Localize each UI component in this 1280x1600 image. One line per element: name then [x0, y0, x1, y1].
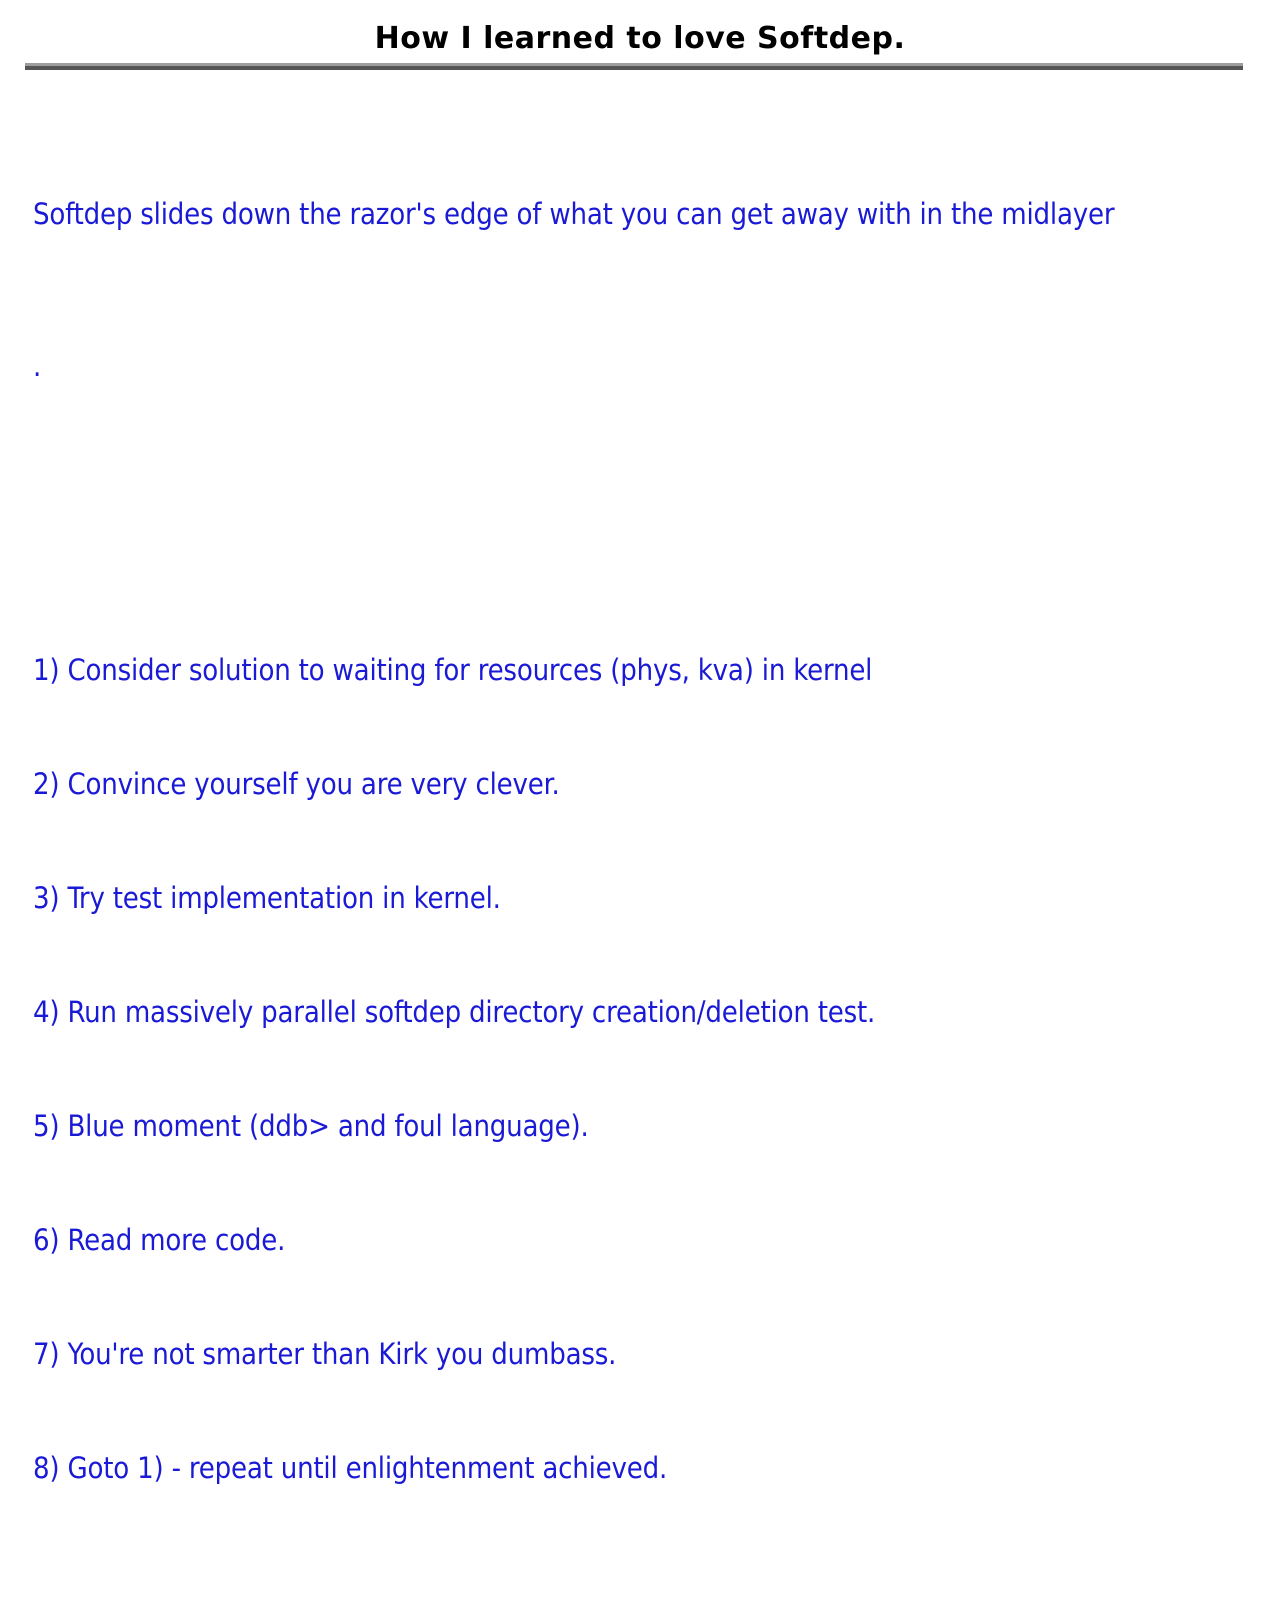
list-item-6: 6) Read more code.: [33, 1221, 1263, 1259]
rule-shadow: [25, 66, 1243, 70]
list-item-3: 3) Try test implementation in kernel.: [33, 879, 1263, 917]
intro-line-1: Softdep slides down the razor's edge of …: [33, 195, 1263, 233]
spacer-line-1: [33, 499, 1263, 537]
slide-body: Softdep slides down the razor's edge of …: [33, 81, 1263, 1600]
page-title: How I learned to love Softdep.: [0, 22, 1280, 56]
list-item-7: 7) You're not smarter than Kirk you dumb…: [33, 1335, 1263, 1373]
list-item-1: 1) Consider solution to waiting for reso…: [33, 651, 1263, 689]
list-item-4: 4) Run massively parallel softdep direct…: [33, 993, 1263, 1031]
intro-line-2: .: [33, 347, 1263, 385]
list-item-8: 8) Goto 1) - repeat until enlightenment …: [33, 1449, 1263, 1487]
slide-canvas: How I learned to love Softdep. Softdep s…: [0, 0, 1280, 800]
list-item-2: 2) Convince yourself you are very clever…: [33, 765, 1263, 803]
list-item-5: 5) Blue moment (ddb> and foul language).: [33, 1107, 1263, 1145]
title-separator-rule: [25, 63, 1243, 70]
